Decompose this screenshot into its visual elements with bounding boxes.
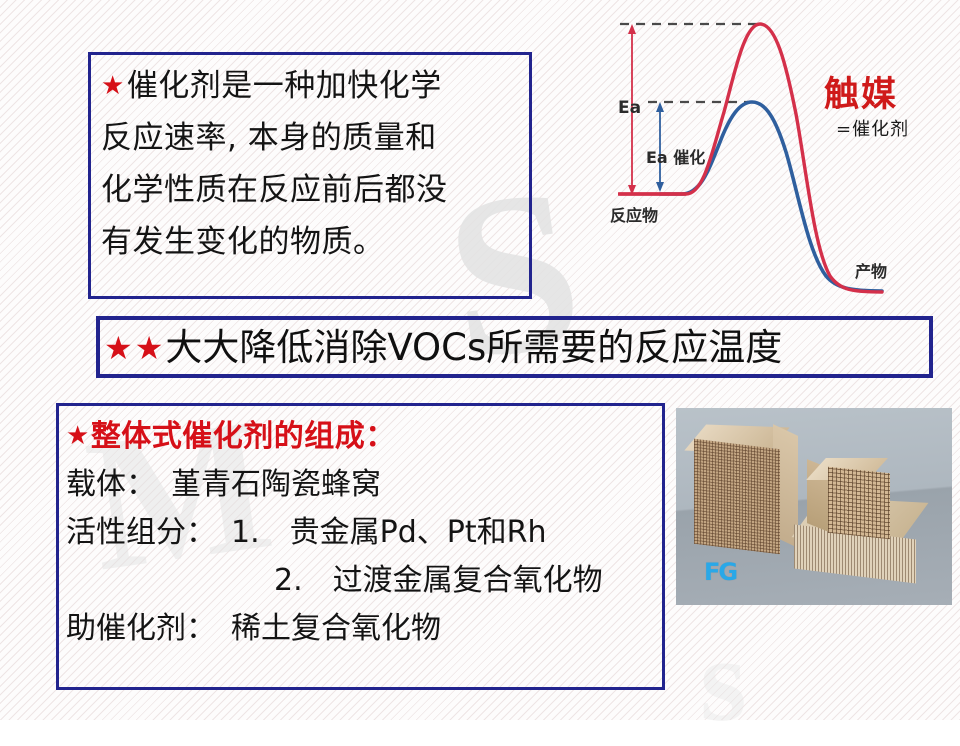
label-equals-catalyst: =催化剂 [836,115,909,141]
star-icon-double: ★★ [104,329,165,367]
ea-cat-arrow-head-bottom [656,182,664,192]
composition-text-block: ★整体式催化剂的组成： 载体： 堇青石陶瓷蜂窝 活性组分： 1. 贵金属Pd、P… [66,412,662,653]
ea-arrow-head-top [628,24,636,34]
label-cuimei: 触媒 [824,66,898,117]
label-reactant: 反应物 [610,202,658,226]
composition-line-active-2: 2. 过渡金属复合氧化物 [66,557,662,605]
honeycomb-block-small-face [828,467,890,540]
composition-line-carrier: 载体： 堇青石陶瓷蜂窝 [66,461,662,509]
definition-line-1: 催化剂是一种加快化学 [127,68,442,104]
banner-text: ★★大大降低消除VOCs所需要的反应温度 [104,326,926,370]
label-ea-catalyzed: Ea 催化 [646,144,705,168]
banner-label: 大大降低消除VOCs所需要的反应温度 [165,326,782,369]
composition-title: ★整体式催化剂的组成： [66,412,662,461]
star-icon: ★ [66,421,90,451]
definition-line-4: 有发生变化的物质。 [101,224,385,260]
composition-line-active-1: 活性组分： 1. 贵金属Pd、Pt和Rh [66,509,662,557]
label-ea: Ea [618,98,641,118]
definition-text: ★催化剂是一种加快化学 反应速率, 本身的质量和 化学性质在反应前后都没 有发生… [101,60,525,268]
energy-diagram-svg [600,2,890,294]
label-product: 产物 [855,258,887,282]
definition-line-2: 反应速率, 本身的质量和 [101,120,437,156]
honeycomb-block-large-face [694,439,780,555]
composition-line-promoter: 助催化剂： 稀土复合氧化物 [66,605,662,653]
definition-line-3: 化学性质在反应前后都没 [101,172,448,208]
ea-cat-arrow-head-top [656,102,664,112]
star-icon: ★ [101,71,125,101]
composition-title-label: 整体式催化剂的组成： [91,419,396,454]
watermark-right: s [700,620,747,740]
photo-watermark-logo: FG [704,558,736,586]
energy-diagram: Ea Ea 催化 反应物 产物 [600,2,890,294]
honeycomb-photo: FG [676,408,952,605]
slide-canvas: S M s ★催化剂是一种加快化学 反应速率, 本身的质量和 化学性质在反应前后… [0,0,960,720]
